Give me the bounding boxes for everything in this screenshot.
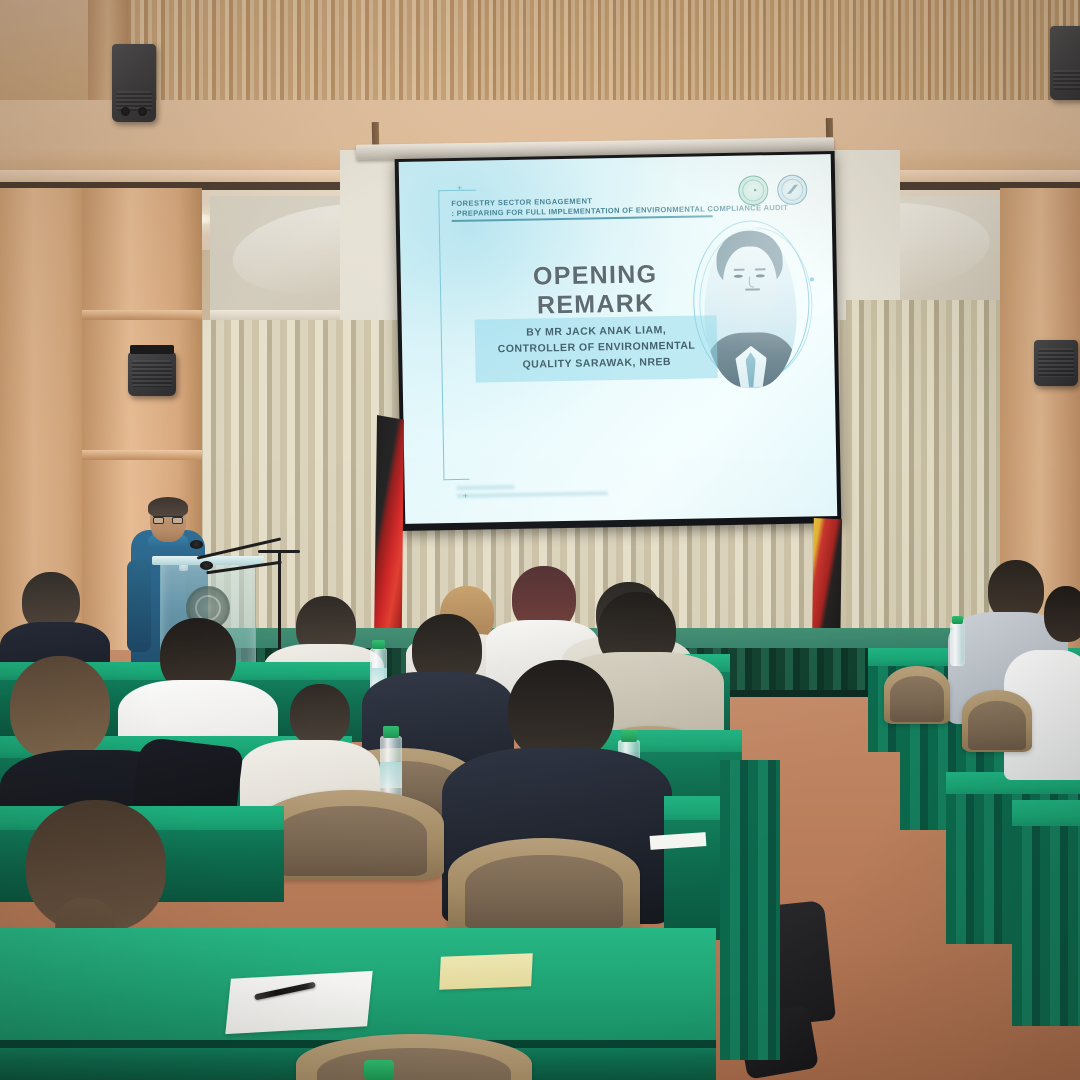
forestry-department-logo: ◔ xyxy=(738,175,769,206)
speaker-grill xyxy=(1053,70,1080,89)
yellow-card xyxy=(439,953,533,990)
portrait-eyebrow xyxy=(755,268,766,270)
banquet-chair xyxy=(884,666,950,724)
bottle-cap xyxy=(952,616,963,624)
slide-footer-note xyxy=(456,482,651,498)
slide-corner-decoration xyxy=(438,190,469,480)
projection-screen: + + FORESTRY SECTOR ENGAGEMENT : PREPARI… xyxy=(395,151,842,531)
microphone-stand-arm xyxy=(258,550,300,553)
wall-speaker-right-column xyxy=(1034,340,1078,386)
audience-head xyxy=(10,656,110,760)
portrait-eye xyxy=(756,274,765,277)
speaker-grill xyxy=(1038,348,1075,377)
wall-speaker-right-upper xyxy=(1050,26,1080,100)
presenter-eyeglasses xyxy=(153,516,183,523)
bottle-cap xyxy=(383,726,399,738)
slide-subtitle-box: BY MR JACK ANAK LIAM, CONTROLLER OF ENVI… xyxy=(475,315,718,382)
bottle-label xyxy=(380,762,402,788)
slide-title: OPENING REMARK xyxy=(478,259,712,321)
banquet-chair xyxy=(258,790,444,880)
eyeglass-lens xyxy=(153,517,164,524)
audience-head xyxy=(508,660,614,762)
chair-seat-back xyxy=(890,676,944,721)
column-band xyxy=(82,310,202,320)
conference-hall-photo: + + FORESTRY SECTOR ENGAGEMENT : PREPARI… xyxy=(0,0,1080,1080)
deco-plus-mark: + xyxy=(457,184,462,193)
microphone-head-upper xyxy=(190,540,203,549)
presentation-slide: + + FORESTRY SECTOR ENGAGEMENT : PREPARI… xyxy=(399,154,838,524)
deco-tick xyxy=(462,190,476,192)
wood-slat-wall-panel-upper xyxy=(470,0,1080,100)
presenter-arm-left xyxy=(127,560,151,652)
audience-head xyxy=(1044,586,1080,642)
eyeglass-lens xyxy=(172,517,183,524)
portrait-mouth xyxy=(745,288,760,290)
water-bottle xyxy=(950,622,965,666)
speaker-cone xyxy=(138,107,147,116)
chair-seat-back xyxy=(465,855,622,930)
banquet-chair xyxy=(962,690,1032,752)
speaker-cone xyxy=(121,107,130,116)
speaker-mount-bracket xyxy=(130,345,174,354)
wall-speaker-left-upper xyxy=(112,44,156,122)
portrait-nose xyxy=(749,277,754,288)
banquet-chair xyxy=(448,838,640,934)
portrait-face xyxy=(722,246,777,330)
deco-dot xyxy=(809,277,813,281)
flag-left xyxy=(374,415,404,650)
speaker-grill xyxy=(132,360,172,387)
chair-seat-back xyxy=(275,806,428,876)
logo-glyph: ∕∕∕ xyxy=(789,183,795,196)
presenter-hair xyxy=(148,497,188,517)
chair-seat-back xyxy=(968,701,1025,749)
nreb-logo: ∕∕∕ xyxy=(777,174,808,205)
bottle-cap xyxy=(372,640,385,649)
wall-speaker-left-column xyxy=(128,352,176,396)
column-band xyxy=(82,450,202,460)
audience-head xyxy=(290,684,350,746)
bottle-cap xyxy=(364,1060,394,1080)
bottle-cap xyxy=(621,730,637,742)
table-skirt-right-4 xyxy=(1012,826,1080,1026)
chair-seat-back xyxy=(317,1048,511,1080)
microphone-head-lower xyxy=(200,561,213,570)
portrait-eyebrow xyxy=(733,268,744,270)
slide-footer-line xyxy=(456,485,514,490)
logo-glyph: ◔ xyxy=(749,184,758,196)
slide-footer-line xyxy=(457,491,609,498)
paper-sheet xyxy=(225,971,372,1034)
slide-logo-group: ◔ ∕∕∕ xyxy=(738,174,808,205)
portrait-eye xyxy=(734,274,743,277)
table-skirt-center-right xyxy=(720,760,780,1060)
